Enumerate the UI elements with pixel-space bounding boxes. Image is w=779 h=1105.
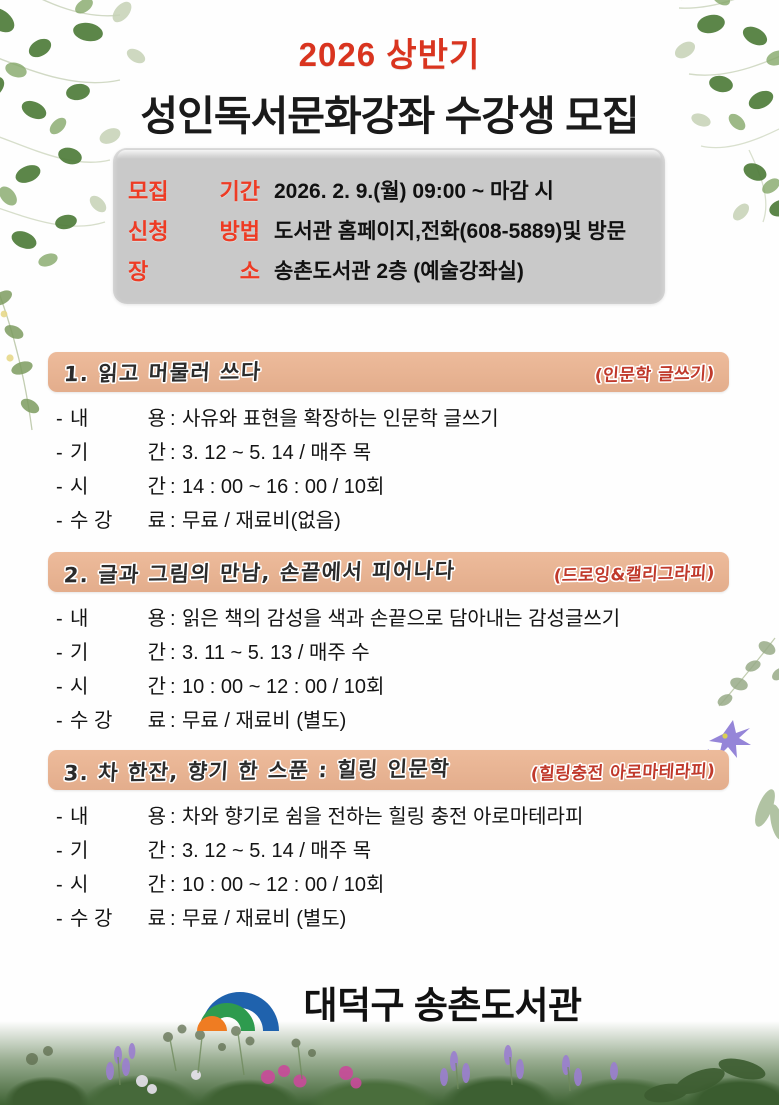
- course-1-key-fee: 수 강 료: [70, 504, 170, 533]
- key-part-b: 간: [148, 834, 166, 863]
- course-3-value-content: 차와 향기로 쉼을 전하는 힐링 충전 아로마테라피: [182, 800, 583, 829]
- info-row-period: 모집 기간 2026. 2. 9.(월) 09:00 ~ 마감 시: [113, 170, 665, 210]
- course-3-value-fee: 무료 / 재료비 (별도): [182, 902, 346, 931]
- course-1-value-fee: 무료 / 재료비(없음): [182, 504, 341, 533]
- course-block-1: 1. 읽고 머물러 쓰다 (인문학 글쓰기) - 내 용 : 사유와 표현을 확…: [48, 352, 729, 538]
- course-3-value-period: 3. 12 ~ 5. 14 / 매주 목: [182, 834, 371, 863]
- info-label-method-a: 신청: [128, 214, 168, 246]
- course-2-details: - 내 용 : 읽은 책의 감성을 색과 손끝으로 담아내는 감성글쓰기 - 기…: [48, 602, 729, 738]
- colon: :: [170, 608, 182, 631]
- course-block-3: 3. 차 한잔, 향기 한 스푼 : 힐링 인문학 (힐링충전 아로마테라피) …: [48, 750, 729, 936]
- footer-branding: 대덕구 송촌도서관: [0, 971, 779, 1033]
- course-1-value-time: 14 : 00 ~ 16 : 00 / 10회: [182, 470, 384, 499]
- key-part-b: 료: [148, 902, 166, 931]
- info-value-method: 도서관 홈페이지,전화(608-5889)및 방문: [274, 215, 626, 245]
- bullet-dash: -: [56, 408, 70, 431]
- bullet-dash: -: [56, 908, 70, 931]
- key-part-b: 간: [148, 436, 166, 465]
- course-2-title: 2. 글과 그림의 만남, 손끝에서 피어나다: [63, 555, 456, 590]
- bullet-dash: -: [56, 710, 70, 733]
- key-part-a: 기: [70, 436, 88, 465]
- bullet-dash: -: [56, 642, 70, 665]
- course-3-detail-time: - 시 간 : 10 : 00 ~ 12 : 00 / 10회: [56, 868, 729, 902]
- course-2-subtitle: (드로잉&캘리그라피): [553, 558, 716, 586]
- bullet-dash: -: [56, 510, 70, 533]
- key-part-a: 수 강: [70, 504, 112, 533]
- key-part-a: 수 강: [70, 704, 112, 733]
- colon: :: [170, 908, 182, 931]
- course-3-detail-fee: - 수 강 료 : 무료 / 재료비 (별도): [56, 902, 729, 936]
- colon: :: [170, 476, 182, 499]
- course-2-value-time: 10 : 00 ~ 12 : 00 / 10회: [182, 670, 384, 699]
- registration-info-box: 모집 기간 2026. 2. 9.(월) 09:00 ~ 마감 시 신청 방법 …: [113, 148, 665, 304]
- colon: :: [170, 840, 182, 863]
- info-row-location: 장 소 송촌도서관 2층 (예술강좌실): [113, 250, 665, 290]
- info-row-method: 신청 방법 도서관 홈페이지,전화(608-5889)및 방문: [113, 210, 665, 250]
- course-1-value-content: 사유와 표현을 확장하는 인문학 글쓰기: [182, 402, 499, 431]
- key-part-a: 내: [70, 602, 88, 631]
- colon: :: [170, 510, 182, 533]
- library-name: 대덕구 송촌도서관: [303, 975, 581, 1029]
- info-label-period-a: 모집: [128, 174, 168, 206]
- page-title: 성인독서문화강좌 수강생 모집: [0, 82, 779, 142]
- course-1-detail-content: - 내 용 : 사유와 표현을 확장하는 인문학 글쓰기: [56, 402, 729, 436]
- course-2-key-content: 내 용: [70, 602, 170, 631]
- bullet-dash: -: [56, 806, 70, 829]
- course-1-subtitle: (인문학 글쓰기): [594, 358, 716, 385]
- course-1-detail-fee: - 수 강 료 : 무료 / 재료비(없음): [56, 504, 729, 538]
- key-part-a: 내: [70, 402, 88, 431]
- key-part-b: 용: [148, 402, 166, 431]
- key-part-b: 료: [148, 704, 166, 733]
- key-part-b: 용: [148, 800, 166, 829]
- daedeok-gu-logo-icon: [197, 971, 283, 1033]
- colon: :: [170, 710, 182, 733]
- colon: :: [170, 442, 182, 465]
- key-part-a: 시: [70, 470, 88, 499]
- course-2-key-period: 기 간: [70, 636, 170, 665]
- course-3-detail-content: - 내 용 : 차와 향기로 쉼을 전하는 힐링 충전 아로마테라피: [56, 800, 729, 834]
- key-part-b: 간: [148, 470, 166, 499]
- colon: :: [170, 806, 182, 829]
- course-1-key-content: 내 용: [70, 402, 170, 431]
- bullet-dash: -: [56, 874, 70, 897]
- bullet-dash: -: [56, 840, 70, 863]
- info-value-period: 2026. 2. 9.(월) 09:00 ~ 마감 시: [274, 175, 554, 205]
- info-value-location: 송촌도서관 2층 (예술강좌실): [274, 255, 524, 285]
- course-3-details: - 내 용 : 차와 향기로 쉼을 전하는 힐링 충전 아로마테라피 - 기 간…: [48, 800, 729, 936]
- course-2-value-period: 3. 11 ~ 5. 13 / 매주 수: [182, 636, 370, 665]
- poster-kicker: 2026 상반기: [0, 28, 779, 76]
- course-3-key-content: 내 용: [70, 800, 170, 829]
- course-2-header-bar: 2. 글과 그림의 만남, 손끝에서 피어나다 (드로잉&캘리그라피): [48, 552, 729, 592]
- colon: :: [170, 642, 182, 665]
- course-1-key-period: 기 간: [70, 436, 170, 465]
- course-3-title: 3. 차 한잔, 향기 한 스푼 : 힐링 인문학: [63, 753, 451, 788]
- info-label-location-b: 소: [240, 254, 260, 286]
- key-part-a: 시: [70, 868, 88, 897]
- poster-canvas: 2026 상반기 성인독서문화강좌 수강생 모집 모집 기간 2026. 2. …: [0, 0, 779, 1105]
- course-block-2: 2. 글과 그림의 만남, 손끝에서 피어나다 (드로잉&캘리그라피) - 내 …: [48, 552, 729, 738]
- info-label-method: 신청 방법: [128, 214, 260, 246]
- bullet-dash: -: [56, 442, 70, 465]
- key-part-a: 기: [70, 834, 88, 863]
- course-2-detail-fee: - 수 강 료 : 무료 / 재료비 (별도): [56, 704, 729, 738]
- colon: :: [170, 408, 182, 431]
- course-2-key-fee: 수 강 료: [70, 704, 170, 733]
- course-2-value-content: 읽은 책의 감성을 색과 손끝으로 담아내는 감성글쓰기: [182, 602, 620, 631]
- info-label-period-b: 기간: [220, 174, 260, 206]
- course-3-value-time: 10 : 00 ~ 12 : 00 / 10회: [182, 868, 384, 897]
- key-part-a: 수 강: [70, 902, 112, 931]
- course-3-key-time: 시 간: [70, 868, 170, 897]
- course-3-detail-period: - 기 간 : 3. 12 ~ 5. 14 / 매주 목: [56, 834, 729, 868]
- course-2-detail-content: - 내 용 : 읽은 책의 감성을 색과 손끝으로 담아내는 감성글쓰기: [56, 602, 729, 636]
- key-part-a: 내: [70, 800, 88, 829]
- bullet-dash: -: [56, 608, 70, 631]
- info-label-location-a: 장: [128, 254, 148, 286]
- info-label-method-b: 방법: [220, 214, 260, 246]
- bullet-dash: -: [56, 476, 70, 499]
- course-2-key-time: 시 간: [70, 670, 170, 699]
- course-3-key-period: 기 간: [70, 834, 170, 863]
- course-2-detail-time: - 시 간 : 10 : 00 ~ 12 : 00 / 10회: [56, 670, 729, 704]
- key-part-b: 간: [148, 636, 166, 665]
- key-part-a: 시: [70, 670, 88, 699]
- key-part-b: 간: [148, 868, 166, 897]
- key-part-b: 간: [148, 670, 166, 699]
- course-2-detail-period: - 기 간 : 3. 11 ~ 5. 13 / 매주 수: [56, 636, 729, 670]
- info-label-period: 모집 기간: [128, 174, 260, 206]
- info-label-location: 장 소: [128, 254, 260, 286]
- course-3-subtitle: (힐링충전 아로마테라피): [530, 756, 716, 784]
- key-part-b: 료: [148, 504, 166, 533]
- key-part-b: 용: [148, 602, 166, 631]
- key-part-a: 기: [70, 636, 88, 665]
- course-1-header-bar: 1. 읽고 머물러 쓰다 (인문학 글쓰기): [48, 352, 729, 392]
- course-1-value-period: 3. 12 ~ 5. 14 / 매주 목: [182, 436, 371, 465]
- course-1-title: 1. 읽고 머물러 쓰다: [63, 356, 263, 388]
- course-1-key-time: 시 간: [70, 470, 170, 499]
- course-1-details: - 내 용 : 사유와 표현을 확장하는 인문학 글쓰기 - 기 간 : 3. …: [48, 402, 729, 538]
- course-1-detail-time: - 시 간 : 14 : 00 ~ 16 : 00 / 10회: [56, 470, 729, 504]
- course-3-header-bar: 3. 차 한잔, 향기 한 스푼 : 힐링 인문학 (힐링충전 아로마테라피): [48, 750, 729, 790]
- colon: :: [170, 676, 182, 699]
- bullet-dash: -: [56, 676, 70, 699]
- course-2-value-fee: 무료 / 재료비 (별도): [182, 704, 346, 733]
- colon: :: [170, 874, 182, 897]
- course-1-detail-period: - 기 간 : 3. 12 ~ 5. 14 / 매주 목: [56, 436, 729, 470]
- course-3-key-fee: 수 강 료: [70, 902, 170, 931]
